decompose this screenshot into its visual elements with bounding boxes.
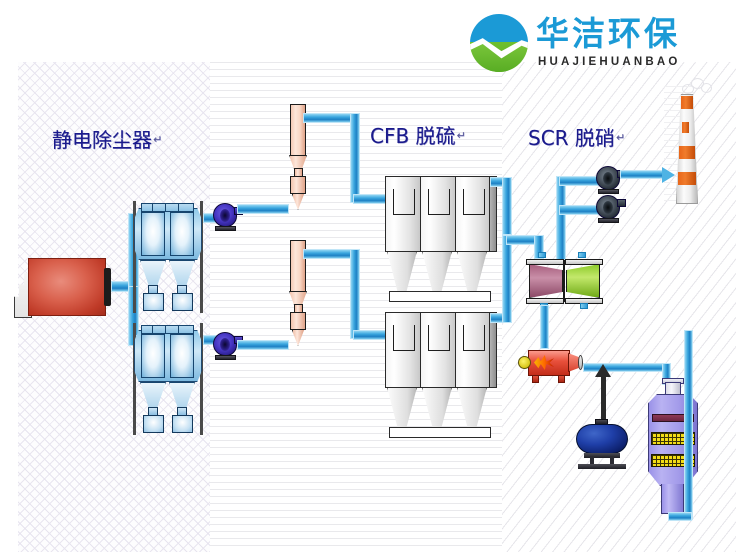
flue-gas-duct-to-scr-fan-upper [559, 176, 599, 186]
logo-chinese-name: 华洁环保 [536, 14, 680, 54]
flue-gas-duct-to-bag-filter-lower [353, 330, 387, 340]
gas-gas-heat-exchanger [524, 256, 606, 306]
circle-mountain-wave-logo-icon [470, 14, 528, 72]
bag-filter-upper [385, 176, 497, 296]
esp-ash-collection-box-1 [143, 293, 164, 311]
ggh-clean-gas-side [566, 264, 600, 298]
bag-filter-chamber-1 [385, 176, 421, 252]
section-title-esp-text: 静电除尘器 [52, 128, 152, 152]
company-logo: 华洁环保 HUAJIEHUANBAO [470, 12, 726, 76]
bag-filter-bag-row-2 [428, 189, 450, 215]
section-title-cfb: CFB 脱硫↵ [370, 120, 466, 149]
burner-support-leg-1 [532, 375, 539, 383]
flue-gas-duct-ggh-outlet-down [540, 305, 549, 349]
ammonia-tank-base-beam [578, 464, 626, 469]
venturi-bell [290, 176, 306, 194]
flue-gas-duct-bag-upper-riser [502, 177, 512, 235]
section-title-cfb-text: CFB 脱硫 [370, 124, 456, 148]
fan-base [598, 218, 619, 223]
boiler-furnace [28, 258, 106, 316]
exhaust-stack-chimney [676, 94, 698, 204]
fan-inlet-eye-icon [220, 209, 230, 222]
bag-filter-hopper-1 [387, 387, 417, 431]
pilcrow-mark-scr: ↵ [616, 131, 625, 144]
logo-pinyin-name: HUAJIEHUANBAO [538, 56, 681, 68]
ggh-raw-gas-side [529, 264, 563, 298]
section-title-esp: 静电除尘器↵ [52, 124, 162, 153]
stack-band-2 [682, 122, 689, 133]
bag-filter-hopper-3 [457, 387, 487, 431]
bag-filter-hopper-1 [387, 251, 417, 295]
esp-collecting-field-2 [170, 334, 194, 378]
stack-band-3 [679, 146, 695, 159]
flue-gas-duct-fan-lower-to-venturi [237, 340, 289, 350]
bag-filter-bag-row-3 [463, 189, 485, 215]
bag-filter-hopper-2 [422, 387, 452, 431]
auxiliary-burner [518, 346, 590, 388]
ggh-inlet-stub-left [538, 252, 546, 258]
esp-penthouse-roof [141, 325, 194, 334]
bag-filter-chamber-2 [420, 176, 456, 252]
esp-unit-lower [130, 318, 206, 426]
scr-reactor-outlet-duct [661, 484, 684, 514]
bag-filter-bag-row-2 [428, 325, 450, 351]
esp-ash-hopper-2 [169, 260, 195, 286]
flue-gas-duct-to-stack [620, 170, 666, 179]
flue-gas-duct-scr-bottom-connect [668, 512, 692, 521]
venturi-riser-shaft [290, 240, 306, 292]
scr-booster-fan-lower[interactable] [596, 195, 626, 225]
bag-filter-chamber-3 [455, 176, 491, 252]
scr-reactor-inlet-neck [665, 382, 681, 395]
esp-ash-collection-box-2 [172, 293, 193, 311]
bag-filter-chamber-1 [385, 312, 421, 388]
stack-band-4 [678, 172, 696, 185]
process-flow-diagram: 华洁环保 HUAJIEHUANBAO 静电除尘器↵ CFB 脱硫↵ SCR 脱硝… [0, 0, 736, 552]
esp-collecting-field-1 [141, 334, 165, 378]
flue-gas-duct-to-scr-fan-lower [559, 205, 599, 215]
boiler-outlet-damper [104, 268, 111, 306]
ggh-inlet-stub-right [578, 252, 586, 258]
flue-gas-duct-venturi-upper-down [350, 113, 360, 203]
fan-inlet-eye-icon [220, 338, 230, 351]
esp-ash-hopper-1 [140, 260, 166, 286]
ammonia-tank-shell [576, 424, 628, 454]
fan-base [598, 189, 619, 194]
flue-gas-duct-venturi-lower-down [350, 249, 360, 339]
section-title-scr-text: SCR 脱硝 [528, 126, 615, 150]
ggh-flange-top-left [526, 259, 564, 265]
fan-inlet-eye-icon [603, 201, 613, 214]
bag-filter-hopper-3 [457, 251, 487, 295]
bag-filter-foundation-pad [389, 427, 491, 438]
arrow-up-icon-ammonia-feed [595, 364, 611, 377]
fan-inlet-eye-icon [603, 172, 613, 185]
flue-gas-duct-scr-fan-riser [556, 176, 566, 260]
stack-plume-icon [682, 78, 716, 98]
venturi-riser-shaft [290, 104, 306, 156]
bag-filter-foundation-pad [389, 291, 491, 302]
bag-filter-bag-row-1 [393, 325, 415, 351]
ammonia-storage-tank [576, 424, 632, 470]
esp-unit-upper [130, 196, 206, 304]
venturi-inlet-tip [292, 193, 305, 210]
scr-catalyst-reactor [646, 378, 702, 516]
pilcrow-mark-cfb: ↵ [457, 129, 466, 142]
pilcrow-mark-esp: ↵ [153, 133, 162, 146]
bag-filter-clean-gas-plenum [489, 176, 497, 252]
fan-base [215, 355, 236, 360]
fan-base [215, 226, 236, 231]
venturi-inlet-tip [292, 329, 305, 346]
bag-filter-bag-row-1 [393, 189, 415, 215]
ggh-divider [563, 260, 565, 302]
bag-filter-clean-gas-plenum [489, 312, 497, 388]
bag-filter-chamber-3 [455, 312, 491, 388]
ggh-outlet-stub-right [580, 303, 588, 309]
ggh-flange-top-right [565, 259, 603, 265]
burner-support-leg-2 [558, 375, 565, 383]
venturi-upper-cone [289, 291, 307, 305]
esp-ash-collection-box-2 [172, 415, 193, 433]
flue-gas-duct-to-bag-filter-upper [353, 194, 387, 204]
flue-gas-duct-fan-upper-to-venturi [237, 204, 289, 214]
venturi-bell [290, 312, 306, 330]
burner-fuel-valve[interactable] [518, 356, 531, 369]
bag-filter-bag-row-3 [463, 325, 485, 351]
bag-filter-chamber-2 [420, 312, 456, 388]
bag-filter-hopper-2 [422, 251, 452, 295]
bag-filter-lower [385, 312, 497, 432]
esp-ash-hopper-2 [169, 382, 195, 408]
flue-gas-duct-bag-lower-riser [502, 235, 512, 323]
venturi-upper-cone [289, 155, 307, 169]
esp-collecting-field-1 [141, 212, 165, 256]
arrow-right-icon-stack-inlet [662, 167, 675, 183]
esp-ash-collection-box-1 [143, 415, 164, 433]
flue-gas-duct-scr-to-stack-riser [684, 330, 693, 520]
fan-outlet-stub [617, 199, 626, 207]
esp-collecting-field-2 [170, 212, 194, 256]
esp-ash-hopper-1 [140, 382, 166, 408]
section-title-scr: SCR 脱硝↵ [528, 122, 625, 151]
esp-penthouse-roof [141, 203, 194, 212]
